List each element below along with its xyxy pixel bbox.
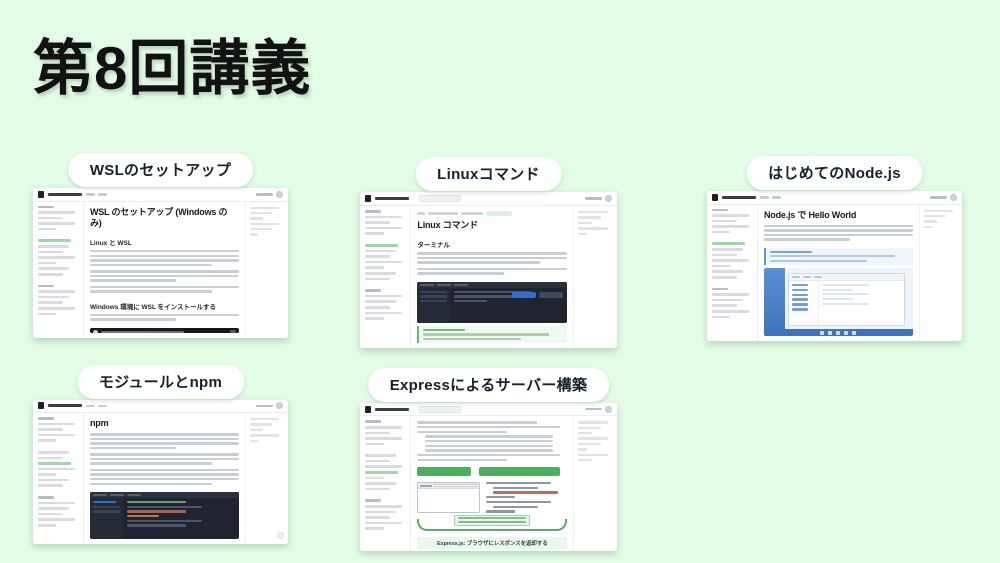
doc-body: npm — [33, 413, 288, 544]
explorer-toolbar — [789, 274, 904, 281]
thumbnail-modules-npm[interactable]: npm — [33, 400, 288, 544]
diagram-chip — [454, 515, 530, 526]
doc-subheading: Linux と WSL — [90, 237, 239, 247]
header-links[interactable] — [86, 193, 107, 196]
explorer-file-list[interactable] — [819, 281, 904, 325]
doc-toc[interactable] — [573, 416, 617, 551]
code-editor-screenshot[interactable] — [417, 282, 567, 323]
doc-header — [33, 400, 288, 413]
desktop-background — [764, 268, 785, 336]
editor-action-buttons[interactable] — [512, 292, 563, 298]
doc-paragraph — [417, 268, 567, 275]
doc-paragraph — [90, 270, 239, 282]
header-right[interactable] — [585, 195, 612, 202]
doc-toc[interactable] — [245, 413, 288, 544]
site-logo-icon — [38, 191, 44, 198]
doc-paragraph — [90, 453, 239, 465]
doc-paragraph — [90, 314, 239, 321]
doc-body: WSL のセットアップ (Windows のみ) Linux と WSL Win… — [33, 202, 288, 339]
terminal-screenshot[interactable] — [90, 492, 239, 539]
doc-header — [707, 191, 962, 205]
doc-paragraph — [90, 433, 239, 449]
browser-viewport — [418, 489, 479, 511]
explorer-window[interactable] — [788, 273, 905, 326]
terminal-sidebar — [90, 498, 123, 539]
doc-heading: Node.js で Hello World — [764, 210, 913, 221]
code-snippet — [486, 482, 567, 512]
header-nav-link[interactable] — [930, 196, 947, 199]
doc-body: Linux コマンド ターミナル — [360, 206, 617, 348]
header-nav-link[interactable] — [256, 405, 273, 408]
header-right[interactable] — [585, 406, 612, 413]
url-button[interactable] — [479, 467, 560, 476]
site-logo-icon — [365, 195, 371, 202]
terminal-titlebar — [90, 492, 239, 498]
avatar[interactable] — [276, 191, 283, 198]
avatar[interactable] — [605, 406, 612, 413]
thumbnail-linux-commands[interactable]: Linux コマンド ターミナル — [360, 192, 617, 348]
header-nav-link[interactable] — [585, 197, 602, 200]
card-label-express-server[interactable]: Expressによるサーバー構築 — [368, 368, 610, 402]
scroll-to-top-button[interactable] — [277, 532, 284, 539]
doc-main: Linux コマンド ターミナル — [411, 206, 573, 348]
doc-main: WSL のセットアップ (Windows のみ) Linux と WSL Win… — [84, 202, 245, 339]
browser-mockup — [417, 482, 480, 512]
site-name — [375, 408, 409, 411]
header-nav-link[interactable] — [585, 408, 602, 411]
site-logo-icon — [365, 406, 371, 413]
thumbnail-first-nodejs[interactable]: Node.js で Hello World — [707, 191, 962, 341]
card-label-wsl-setup[interactable]: WSLのセットアップ — [68, 153, 253, 187]
header-right[interactable] — [930, 194, 957, 201]
doc-sidebar[interactable] — [360, 206, 411, 348]
doc-main: Express.js: ブラウザにレスポンスを返却する — [411, 416, 573, 551]
doc-toc[interactable] — [573, 206, 617, 348]
doc-sidebar[interactable] — [360, 416, 411, 551]
header-right[interactable] — [256, 402, 283, 409]
explorer-screenshot[interactable] — [764, 268, 913, 336]
site-logo-icon — [38, 402, 44, 409]
doc-subheading: ターミナル — [417, 239, 567, 249]
search-input[interactable] — [419, 195, 461, 202]
doc-paragraph — [90, 286, 239, 293]
editor-menubar — [417, 282, 567, 288]
doc-heading: npm — [90, 418, 239, 429]
header-right[interactable] — [256, 191, 283, 198]
terminal-output — [123, 498, 239, 539]
doc-header — [360, 403, 617, 416]
page-title: 第8回講義 — [33, 34, 311, 103]
doc-main: Node.js で Hello World — [758, 205, 919, 342]
diagram-brace — [417, 519, 567, 531]
breadcrumb[interactable] — [417, 211, 567, 216]
doc-paragraph — [764, 225, 913, 241]
video-clock: 18:31 — [90, 330, 239, 333]
run-button[interactable] — [417, 467, 471, 476]
thumbnail-wsl-setup[interactable]: WSL のセットアップ (Windows のみ) Linux と WSL Win… — [33, 188, 288, 338]
doc-body: Node.js で Hello World — [707, 205, 962, 342]
doc-paragraph — [90, 250, 239, 266]
explorer-nav-pane[interactable] — [789, 281, 819, 325]
doc-body: Express.js: ブラウザにレスポンスを返却する — [360, 416, 617, 551]
editor-sidebar — [417, 288, 450, 323]
doc-toc[interactable] — [919, 205, 962, 342]
info-callout — [417, 326, 567, 343]
express-diagram: Express.js: ブラウザにレスポンスを返却する — [417, 421, 567, 548]
info-callout — [764, 248, 913, 265]
doc-heading: Linux コマンド — [417, 220, 567, 231]
doc-heading: WSL のセットアップ (Windows のみ) — [90, 207, 239, 230]
avatar[interactable] — [950, 194, 957, 201]
diagram-buttons[interactable] — [417, 467, 567, 476]
slide-canvas: 第8回講義 WSLのセットアップ — [0, 0, 1000, 563]
card-label-first-nodejs[interactable]: はじめてのNode.js — [746, 156, 923, 190]
card-label-linux-commands[interactable]: Linuxコマンド — [415, 157, 562, 191]
search-input[interactable] — [419, 406, 461, 413]
doc-sidebar[interactable] — [707, 205, 758, 342]
doc-sidebar[interactable] — [33, 413, 84, 544]
doc-sidebar[interactable] — [33, 202, 84, 339]
doc-header — [33, 188, 288, 202]
avatar[interactable] — [276, 402, 283, 409]
site-name — [722, 196, 756, 199]
video-embed[interactable]: 18:31 — [90, 328, 239, 333]
diagram-caption: Express.js: ブラウザにレスポンスを返却する — [417, 537, 567, 549]
taskbar — [764, 329, 913, 336]
doc-paragraph — [417, 252, 567, 264]
header-nav-link[interactable] — [256, 193, 273, 196]
site-name — [48, 404, 82, 407]
header-links[interactable] — [760, 196, 781, 199]
avatar[interactable] — [605, 195, 612, 202]
card-label-modules-npm[interactable]: モジュールとnpm — [77, 365, 244, 399]
doc-paragraph — [90, 469, 239, 485]
doc-header — [360, 192, 617, 206]
site-logo-icon — [712, 194, 718, 201]
steps-list — [417, 421, 567, 461]
site-name — [48, 193, 82, 196]
doc-toc[interactable] — [245, 202, 288, 339]
header-links[interactable] — [86, 405, 107, 408]
site-name — [375, 197, 409, 200]
thumbnail-express-server[interactable]: Express.js: ブラウザにレスポンスを返却する — [360, 403, 617, 551]
doc-main: npm — [84, 413, 245, 544]
doc-subheading-2: Windows 環境に WSL をインストールする — [90, 301, 239, 311]
